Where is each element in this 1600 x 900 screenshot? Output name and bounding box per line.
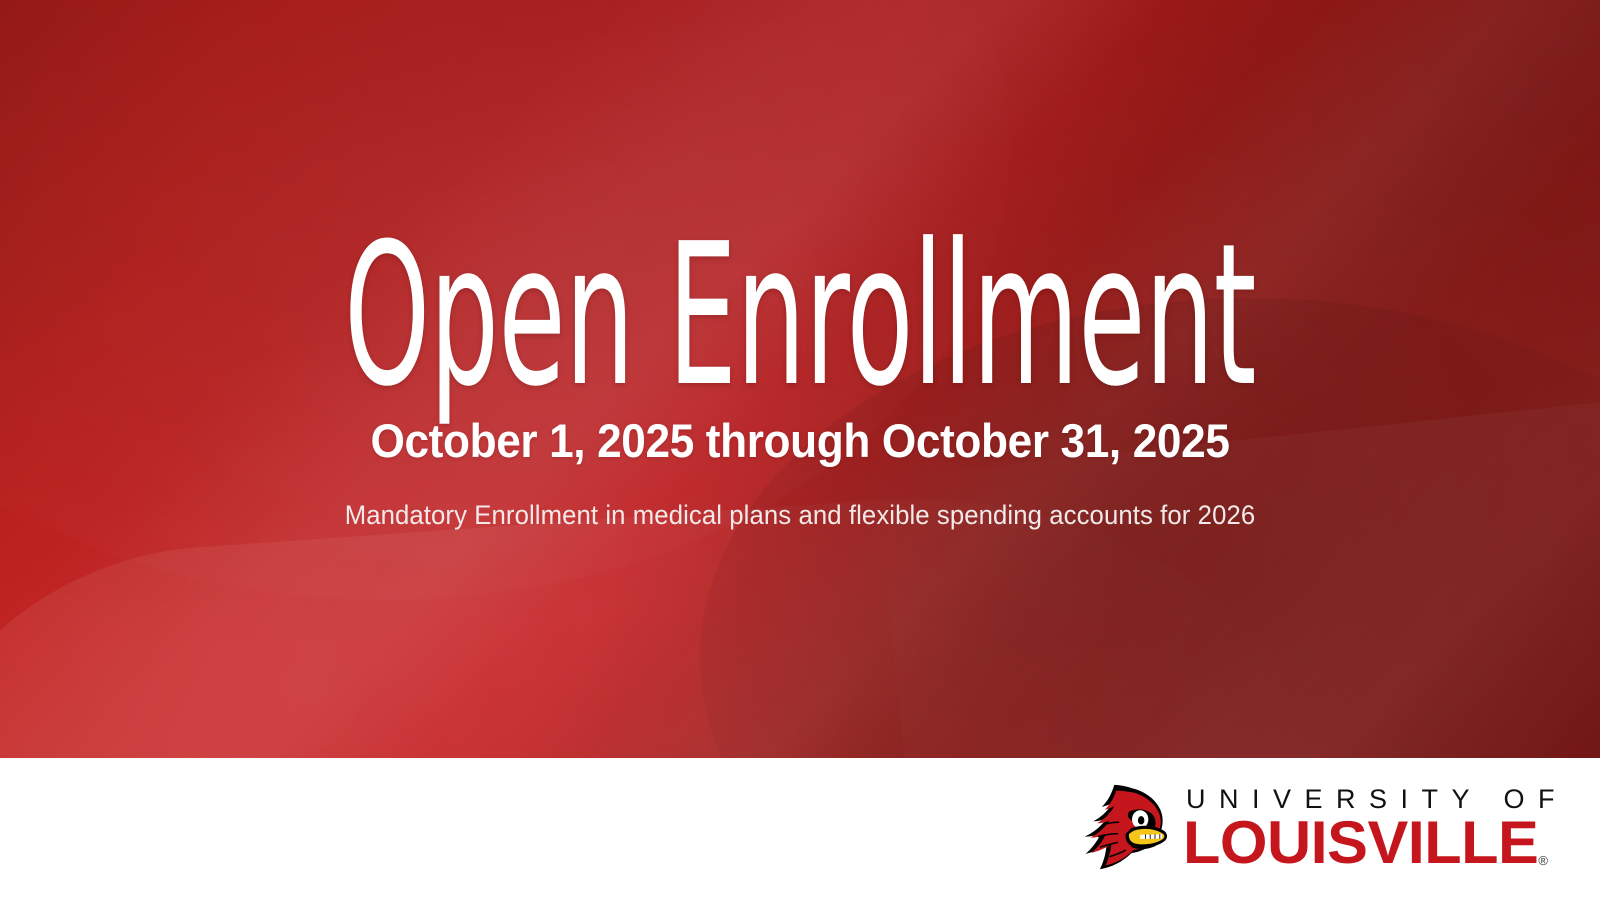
wordmark-louisville: LOUISVILLE bbox=[1183, 814, 1538, 873]
university-logo: UNIVERSITY OF LOUISVILLE ® bbox=[1073, 778, 1568, 878]
slide-subtitle-date-range: October 1, 2025 through October 31, 2025 bbox=[48, 413, 1552, 468]
wordmark-louisville-row: LOUISVILLE ® bbox=[1183, 814, 1548, 873]
logo-wordmark: UNIVERSITY OF LOUISVILLE ® bbox=[1183, 783, 1568, 872]
slide-text-block: Open Enrollment October 1, 2025 through … bbox=[0, 0, 1600, 758]
slide-title: Open Enrollment bbox=[304, 218, 1296, 414]
cardinal-head-icon bbox=[1073, 781, 1169, 875]
footer-bar: UNIVERSITY OF LOUISVILLE ® bbox=[0, 758, 1600, 900]
slide-description: Mandatory Enrollment in medical plans an… bbox=[24, 500, 1576, 531]
presentation-slide: Open Enrollment October 1, 2025 through … bbox=[0, 0, 1600, 900]
registered-trademark-icon: ® bbox=[1538, 854, 1548, 873]
